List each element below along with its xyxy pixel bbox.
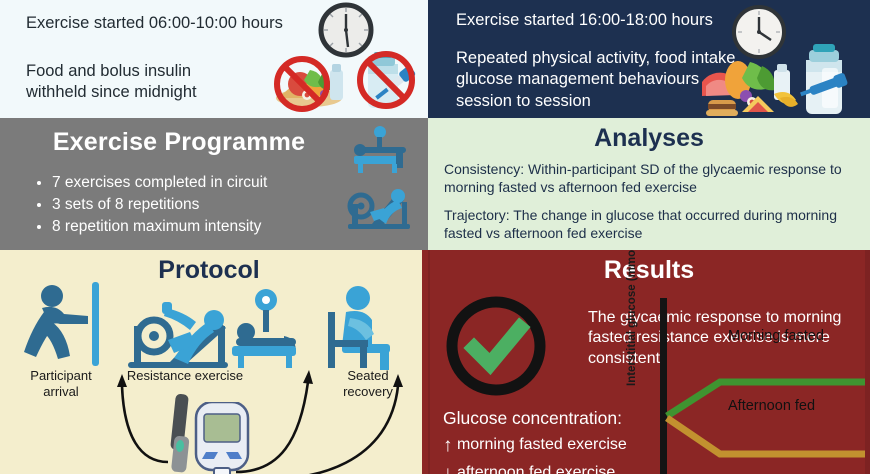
- results-glucose-up-line: ↑ morning fasted exercise: [443, 436, 627, 455]
- infographic-board: Exercise started 06:00-10:00 hours Food …: [0, 0, 870, 474]
- afternoon-start-time-text: Exercise started 16:00-18:00 hours: [456, 11, 713, 30]
- analyses-trajectory-text: Trajectory: The change in glucose that o…: [444, 207, 854, 242]
- morning-fasting-text: Food and bolus insulinwithheld since mid…: [26, 61, 197, 102]
- bench-press-icon: [348, 126, 412, 174]
- up-arrow-icon: ↑: [443, 435, 453, 456]
- analyses-consistency-text: Consistency: Within-participant SD of th…: [444, 161, 854, 196]
- leg-press-icon: [344, 178, 414, 232]
- no-insulin-icon: [348, 46, 424, 116]
- results-line-chart: [638, 298, 870, 474]
- exercise-programme-bullets: 7 exercises completed in circuit 3 sets …: [30, 172, 267, 238]
- panel-morning-fasted-condition: Exercise started 06:00-10:00 hours Food …: [0, 0, 428, 118]
- check-circle-icon: [444, 294, 548, 398]
- panel-afternoon-fed-condition: Exercise started 16:00-18:00 hours Repea…: [428, 0, 870, 118]
- list-item: 7 exercises completed in circuit: [52, 172, 267, 194]
- panel-protocol: Protocol Participantarrival: [0, 250, 428, 474]
- results-title: Results: [428, 256, 870, 285]
- list-item: 3 sets of 8 repetitions: [52, 194, 267, 216]
- analyses-title: Analyses: [428, 124, 870, 153]
- chart-series-label-morning: Morning fasted: [728, 328, 824, 344]
- list-item: 8 repetition maximum intensity: [52, 216, 267, 238]
- morning-start-time-text: Exercise started 06:00-10:00 hours: [26, 14, 283, 33]
- chart-y-axis-label: Interstitial glucose (mmol/l): [626, 250, 638, 386]
- results-glucose-heading: Glucose concentration:: [443, 408, 622, 429]
- glucose-meter-icon: [192, 402, 252, 474]
- insulin-vial-icon: [792, 40, 854, 118]
- results-glucose-down-line: ↓ afternoon fed exercise: [443, 464, 615, 474]
- panel-analyses: Analyses Consistency: Within-participant…: [428, 118, 870, 250]
- panel-results: Results The glycaemic response to mornin…: [428, 250, 870, 474]
- no-food-icon: [266, 50, 352, 112]
- chart-series-label-afternoon: Afternoon fed: [728, 398, 815, 414]
- down-arrow-icon: ↓: [443, 463, 453, 474]
- panel-exercise-programme: Exercise Programme 7 exercises completed…: [0, 118, 428, 250]
